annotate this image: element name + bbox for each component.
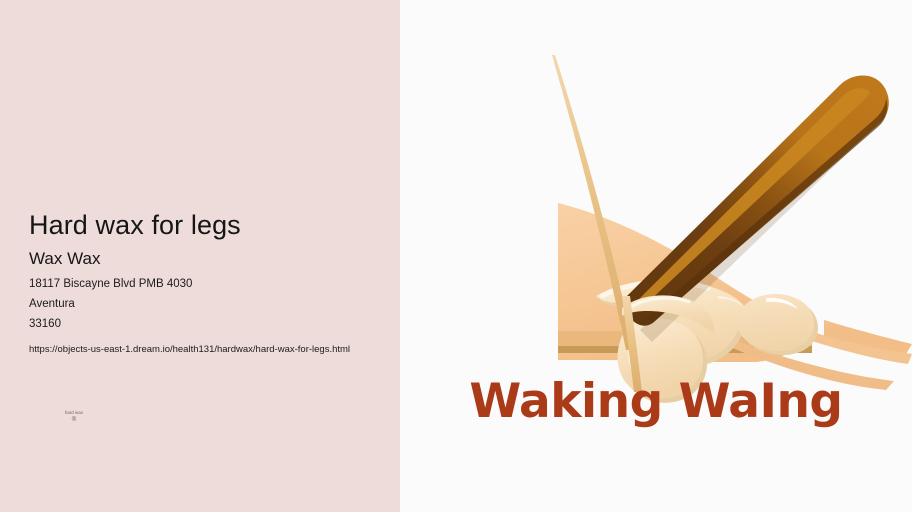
illustration-clean: [400, 0, 912, 512]
product-url[interactable]: https://objects-us-east-1.dream.io/healt…: [29, 340, 369, 361]
product-info-block: Hard wax for legs Wax Wax 18117 Biscayne…: [29, 210, 374, 361]
brand-logo-wordmark: Waking WaIng: [400, 378, 912, 425]
page-title: Hard wax for legs: [29, 210, 374, 242]
product-listing-page: Hard wax for legs Wax Wax 18117 Biscayne…: [0, 0, 912, 512]
registered-trademark-icon: ®: [44, 417, 104, 425]
address-line-street: 18117 Biscayne Blvd PMB 4030: [29, 275, 374, 295]
leg-waxing-illustration: [400, 0, 912, 512]
brand-name: Wax Wax: [29, 248, 374, 269]
mini-watermark-label: hard wax: [44, 410, 104, 416]
left-info-panel: Hard wax for legs Wax Wax 18117 Biscayne…: [0, 0, 400, 512]
address-line-city: Aventura: [29, 295, 374, 315]
mini-watermark: hard wax ®: [44, 410, 104, 425]
address-line-zip: 33160: [29, 315, 374, 335]
right-image-panel: Waking WaIng: [400, 0, 912, 512]
